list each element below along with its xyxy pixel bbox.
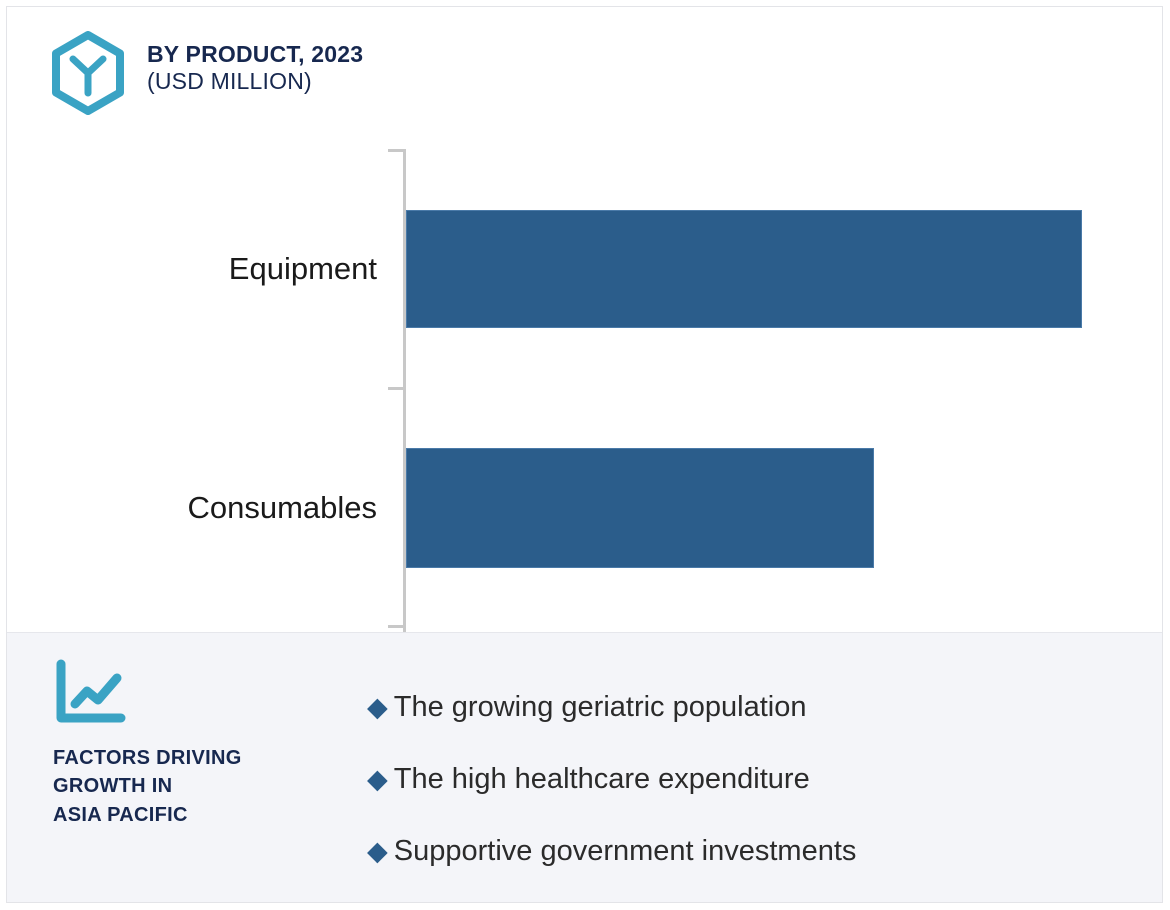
bar-equipment [406,210,1082,328]
factors-left-column: FACTORS DRIVING GROWTH IN ASIA PACIFIC [53,658,343,829]
infographic-card: BY PRODUCT, 2023 (USD MILLION) Equipment… [6,6,1163,903]
category-label-consumables: Consumables [187,490,377,526]
factors-heading-line-1: FACTORS DRIVING [53,744,343,772]
page-title: BY PRODUCT, 2023 [147,41,363,68]
factors-heading: FACTORS DRIVING GROWTH IN ASIA PACIFIC [53,744,343,829]
axis-tick-bottom [388,625,406,628]
axis-tick-top [388,149,406,152]
factors-heading-line-3: ASIA PACIFIC [53,801,343,829]
list-item: ◆ The high healthcare expenditure [367,743,1127,815]
factor-text: The high healthcare expenditure [394,763,810,796]
factors-list: ◆ The growing geriatric population ◆ The… [367,671,1127,887]
diamond-bullet-icon: ◆ [367,766,388,793]
factor-text: The growing geriatric population [394,691,807,724]
line-chart-icon [53,658,127,728]
page-subtitle: (USD MILLION) [147,68,363,95]
factors-panel: FACTORS DRIVING GROWTH IN ASIA PACIFIC ◆… [7,632,1163,903]
bar-chart: Equipment Consumables [7,137,1163,632]
hexagon-y-logo-icon [49,31,127,115]
diamond-bullet-icon: ◆ [367,694,388,721]
factors-heading-line-2: GROWTH IN [53,772,343,800]
header: BY PRODUCT, 2023 (USD MILLION) [49,31,363,115]
bar-consumables [406,448,874,568]
factor-text: Supportive government investments [394,835,857,868]
category-label-equipment: Equipment [229,251,377,287]
list-item: ◆ Supportive government investments [367,815,1127,887]
diamond-bullet-icon: ◆ [367,838,388,865]
list-item: ◆ The growing geriatric population [367,671,1127,743]
header-text: BY PRODUCT, 2023 (USD MILLION) [147,31,363,95]
axis-tick-middle [388,387,406,390]
